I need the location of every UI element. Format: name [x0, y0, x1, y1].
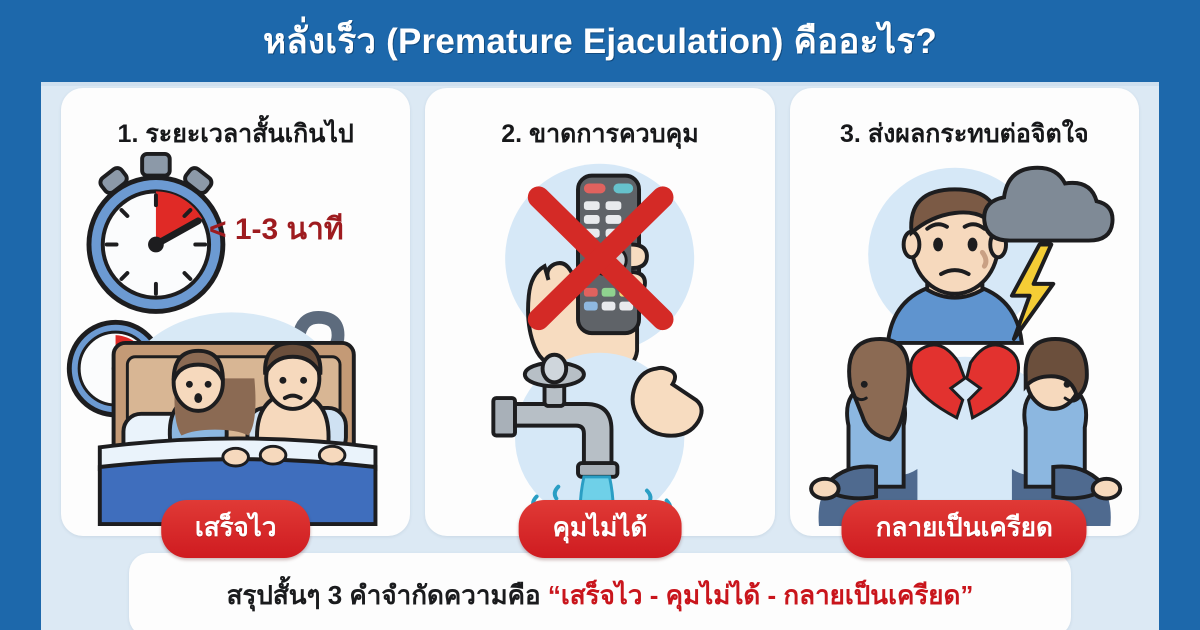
couple-in-bed-illustration — [100, 312, 376, 524]
card-2-artwork — [425, 150, 774, 530]
badge-card-1: เสร็จไว — [161, 500, 311, 558]
card-3-title: 3. ส่งผลกระทบต่อจิตใจ — [790, 114, 1139, 154]
summary-text: สรุปสั้นๆ 3 คำจำกัดความคือ “เสร็จไว - คุ… — [227, 575, 974, 616]
page-title: หลั่งเร็ว (Premature Ejaculation) คืออะไ… — [263, 14, 937, 69]
storm-cloud-icon — [984, 168, 1112, 241]
summary-highlight: “เสร็จไว - คุมไม่ได้ - กลายเป็นเครียด” — [548, 580, 974, 610]
infographic-page: หลั่งเร็ว (Premature Ejaculation) คืออะไ… — [0, 0, 1200, 630]
card-3-artwork — [790, 150, 1139, 530]
badge-card-2: คุมไม่ได้ — [519, 500, 682, 558]
card-duration[interactable]: 1. ระยะเวลาสั้นเกินไป — [61, 88, 410, 536]
card-1-title: 1. ระยะเวลาสั้นเกินไป — [61, 114, 410, 154]
card-1-artwork: < 1-3 นาที — [61, 150, 410, 530]
duration-callout: < 1-3 นาที — [209, 206, 344, 253]
summary-bar: สรุปสั้นๆ 3 คำจำกัดความคือ “เสร็จไว - คุ… — [129, 553, 1071, 630]
cards-row: 1. ระยะเวลาสั้นเกินไป — [61, 88, 1139, 536]
panel-top-divider — [41, 82, 1159, 86]
summary-lead: สรุปสั้นๆ 3 คำจำกัดความคือ — [227, 580, 548, 610]
card-2-title: 2. ขาดการควบคุม — [425, 114, 774, 154]
couple-back-to-back-illustration — [811, 339, 1120, 526]
stopwatch-icon — [89, 154, 223, 312]
header-bar: หลั่งเร็ว (Premature Ejaculation) คืออะไ… — [0, 0, 1200, 82]
content-panel: 1. ระยะเวลาสั้นเกินไป — [41, 82, 1159, 630]
card-control[interactable]: 2. ขาดการควบคุม — [425, 88, 774, 536]
card-emotional-impact[interactable]: 3. ส่งผลกระทบต่อจิตใจ — [790, 88, 1139, 536]
badge-card-3: กลายเป็นเครียด — [842, 500, 1087, 558]
